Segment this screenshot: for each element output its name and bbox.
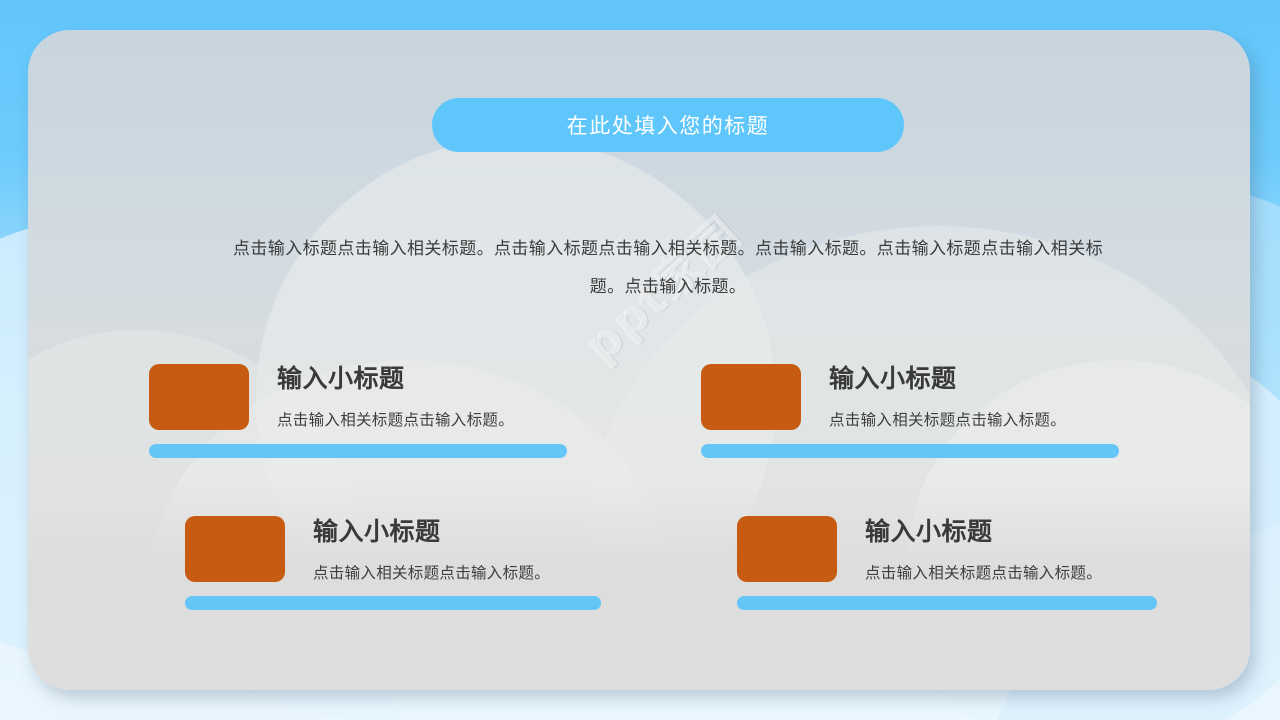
card-lower-wash xyxy=(28,480,1250,690)
intro-paragraph: 点击输入标题点击输入相关标题。点击输入标题点击输入相关标题。点击输入标题。点击输… xyxy=(224,230,1112,306)
feature-heading: 输入小标题 xyxy=(313,512,441,548)
accent-bar xyxy=(185,596,601,610)
slide-canvas: ppt家园 在此处填入您的标题 点击输入标题点击输入相关标题。点击输入标题点击输… xyxy=(0,0,1280,720)
image-placeholder-box-icon[interactable] xyxy=(737,516,837,582)
accent-bar xyxy=(149,444,567,458)
image-placeholder-box-icon[interactable] xyxy=(701,364,801,430)
feature-description: 点击输入相关标题点击输入标题。 xyxy=(313,561,550,583)
feature-heading: 输入小标题 xyxy=(277,359,405,395)
slide-title-pill: 在此处填入您的标题 xyxy=(432,98,904,152)
feature-description: 点击输入相关标题点击输入标题。 xyxy=(865,561,1102,583)
content-card: ppt家园 在此处填入您的标题 点击输入标题点击输入相关标题。点击输入标题点击输… xyxy=(28,30,1250,690)
accent-bar xyxy=(737,596,1157,610)
feature-heading: 输入小标题 xyxy=(829,359,957,395)
accent-bar xyxy=(701,444,1119,458)
image-placeholder-box-icon[interactable] xyxy=(185,516,285,582)
image-placeholder-box-icon[interactable] xyxy=(149,364,249,430)
feature-description: 点击输入相关标题点击输入标题。 xyxy=(277,408,514,430)
page-title: 在此处填入您的标题 xyxy=(567,110,770,140)
feature-description: 点击输入相关标题点击输入标题。 xyxy=(829,408,1066,430)
feature-heading: 输入小标题 xyxy=(865,512,993,548)
